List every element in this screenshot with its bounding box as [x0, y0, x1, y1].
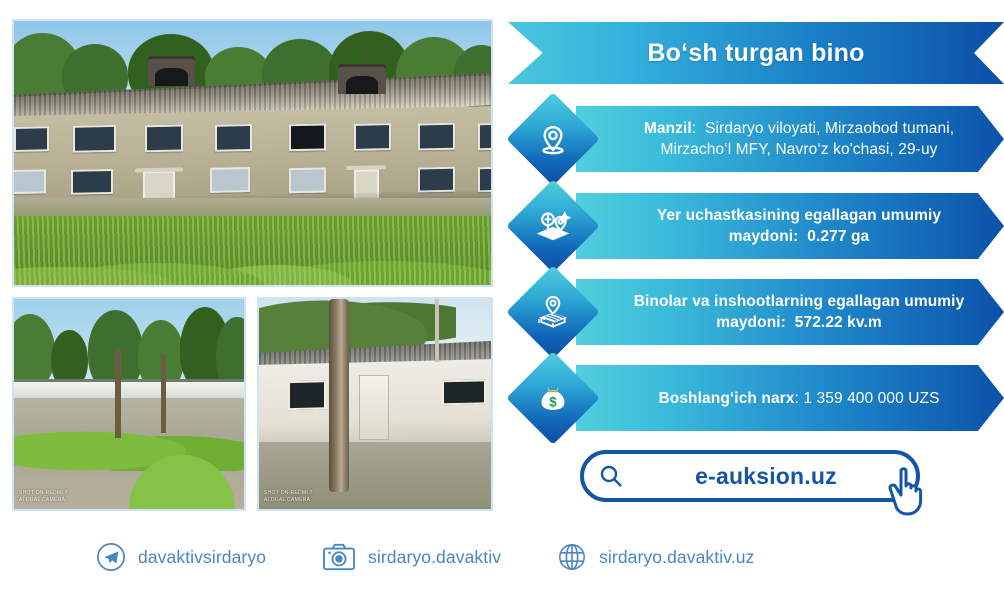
location-pin-icon	[520, 106, 586, 172]
info-row-text: Manzil: Sirdaryo viloyati, Mirzaobod tum…	[628, 118, 970, 160]
info-row-value: 572.22 kv.m	[795, 314, 882, 331]
svg-text:$: $	[549, 395, 557, 410]
photo-gallery: SHOT ON REDMI 7 AI DUAL CAMERA SHOT ON R…	[12, 19, 493, 511]
details-panel: Bo‘sh turgan bino Manzil: Sirdaryo viloy…	[504, 0, 1004, 520]
window-right	[443, 379, 486, 405]
info-row-bar: Yer uchastkasining egallagan umumiy mayd…	[576, 193, 1004, 259]
money-bag-icon-badge: $	[506, 351, 599, 444]
house-door	[359, 375, 389, 440]
info-row-label: Manzil	[644, 120, 692, 137]
entrance-door-right	[354, 169, 379, 202]
info-row-label: Yer uchastkasining egallagan umumiy mayd…	[657, 207, 941, 245]
window-left	[288, 380, 327, 410]
perimeter-wall	[14, 379, 244, 400]
treeline	[14, 305, 244, 389]
white-house-and-tree-photo: SHOT ON REDMI 7 AI DUAL CAMERA	[257, 297, 493, 511]
info-row-text: Binolar va inshootlarning egallagan umum…	[628, 291, 970, 333]
info-row-land-area: Yer uchastkasining egallagan umumiy mayd…	[504, 187, 1004, 265]
location-pin-icon-badge	[506, 92, 599, 185]
page-title: Bo‘sh turgan bino	[647, 39, 864, 68]
photo-scene: SHOT ON REDMI 7 AI DUAL CAMERA	[259, 299, 491, 509]
info-row-bar: Binolar va inshootlarning egallagan umum…	[576, 279, 1004, 345]
land-map-icon-badge	[506, 179, 599, 272]
ribbon-notch-right	[974, 22, 1004, 84]
photo-scene	[14, 21, 491, 285]
social-website-label: sirdaryo.davaktiv.uz	[599, 547, 754, 568]
info-row-separator: :	[692, 120, 696, 137]
building-facade	[12, 106, 493, 211]
info-row-separator: :	[795, 390, 799, 407]
photo-watermark: SHOT ON REDMI 7 AI DUAL CAMERA	[264, 490, 313, 504]
tree-trunk	[329, 299, 350, 492]
instagram-camera-icon	[322, 542, 356, 572]
roof-dormer-left	[148, 59, 196, 85]
info-row-separator: :	[781, 314, 786, 331]
info-row-value: 0.277 ga	[807, 228, 869, 245]
website-search-bar[interactable]: e-auksion.uz	[580, 450, 920, 502]
overgrown-grass	[14, 216, 491, 285]
social-telegram-label: davaktivsirdaryo	[138, 547, 266, 568]
social-website[interactable]: sirdaryo.davaktiv.uz	[557, 542, 754, 572]
info-row-value: Sirdaryo viloyati, Mirzaobod tumani, Mir…	[660, 120, 954, 158]
auction-listing-poster: SHOT ON REDMI 7 AI DUAL CAMERA SHOT ON R…	[0, 0, 1004, 590]
info-row-separator: :	[793, 228, 798, 245]
abandoned-two-storey-building-photo	[12, 19, 493, 287]
info-row-value: 1 359 400 000 UZS	[803, 390, 939, 407]
hand-pointer-icon	[876, 458, 942, 524]
roof-dormer-right	[338, 67, 386, 93]
info-row-building-area: Binolar va inshootlarning egallagan umum…	[504, 273, 1004, 351]
info-row-label: Boshlang‘ich narx	[658, 390, 794, 407]
poster-title-banner: Bo‘sh turgan bino	[508, 22, 1004, 84]
globe-icon	[557, 542, 587, 572]
info-row-text: Boshlang‘ich narx: 1 359 400 000 UZS	[658, 388, 939, 409]
land-map-icon	[520, 193, 586, 259]
yard-and-wall-photo: SHOT ON REDMI 7 AI DUAL CAMERA	[12, 297, 246, 511]
info-row-bar: Manzil: Sirdaryo viloyati, Mirzaobod tum…	[576, 106, 1004, 172]
photo-scene: SHOT ON REDMI 7 AI DUAL CAMERA	[14, 299, 244, 509]
info-row-address: Manzil: Sirdaryo viloyati, Mirzaobod tum…	[504, 100, 1004, 178]
info-row-start-price: $ Boshlang‘ich narx: 1 359 400 000 UZS	[504, 359, 1004, 437]
building-plot-icon	[520, 279, 586, 345]
social-footer: davaktivsirdaryo sirdaryo.davaktiv	[0, 524, 1004, 590]
telegram-icon	[96, 542, 126, 572]
social-instagram[interactable]: sirdaryo.davaktiv	[322, 542, 501, 572]
social-telegram[interactable]: davaktivsirdaryo	[96, 542, 266, 572]
info-row-text: Yer uchastkasining egallagan umumiy mayd…	[628, 205, 970, 247]
money-bag-icon: $	[520, 365, 586, 431]
social-instagram-label: sirdaryo.davaktiv	[368, 547, 501, 568]
website-url-label: e-auksion.uz	[616, 463, 916, 490]
weeds-foreground	[120, 446, 244, 509]
building-plot-icon-badge	[506, 265, 599, 358]
info-row-bar: Boshlang‘ich narx: 1 359 400 000 UZS	[576, 365, 1004, 431]
photo-watermark: SHOT ON REDMI 7 AI DUAL CAMERA	[19, 490, 68, 504]
